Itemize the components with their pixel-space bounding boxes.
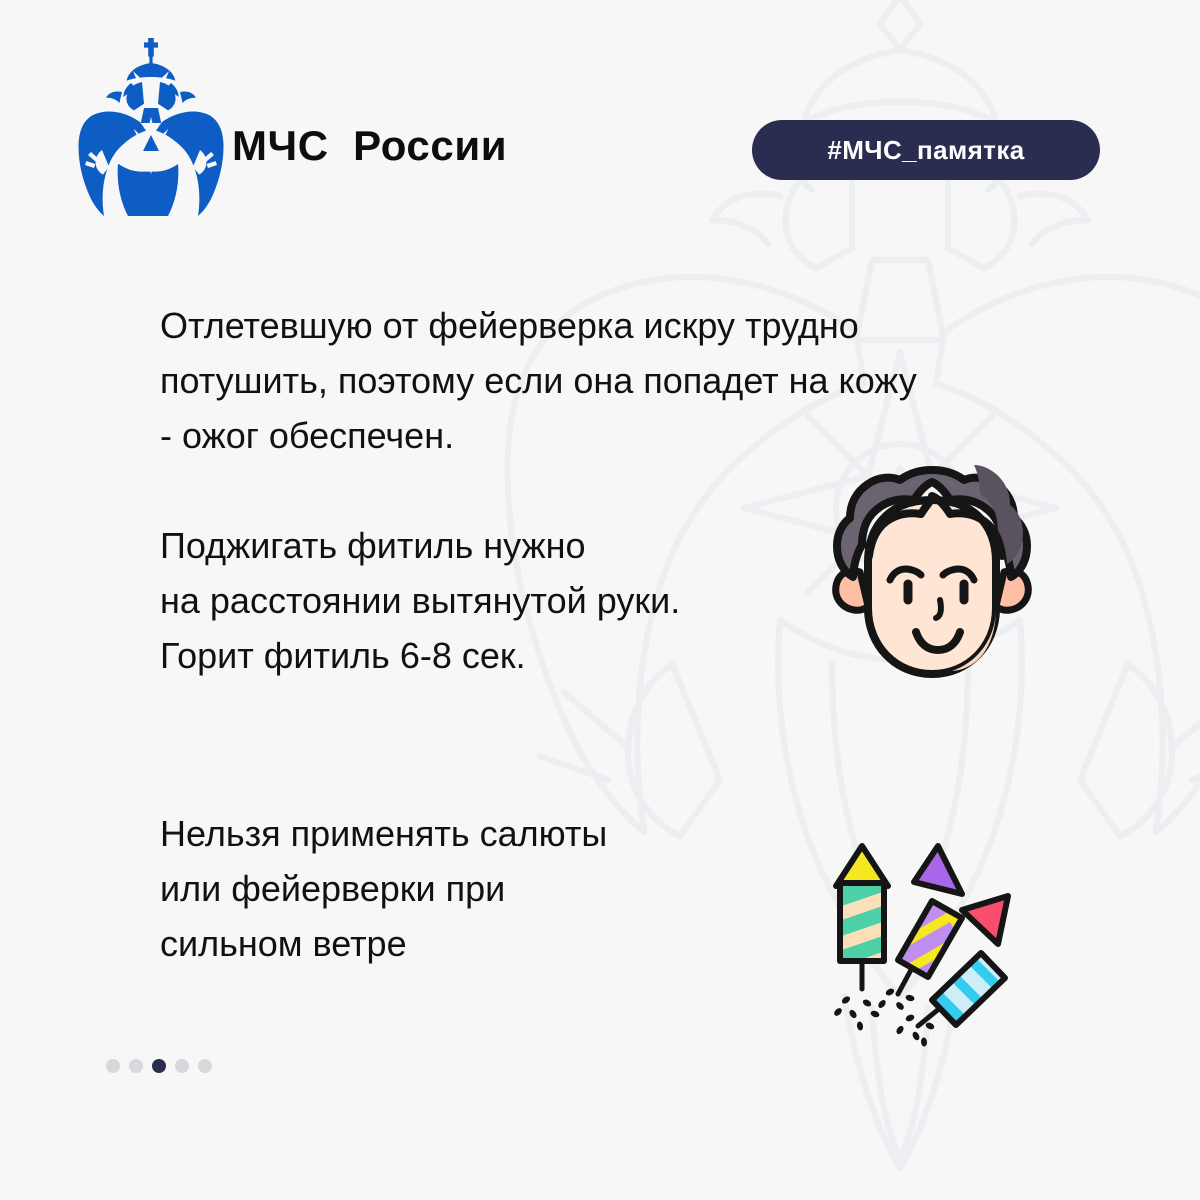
pagination-dot[interactable] [198,1059,212,1073]
hashtag-badge-label: #МЧС_памятка [827,135,1024,166]
poster-canvas: МЧС России #МЧС_памятка Отлетевшую от фе… [0,0,1200,1200]
mchs-eagle-emblem-icon [78,34,224,216]
pagination-dot[interactable] [175,1059,189,1073]
paragraph-strong-wind: Нельзя применять салюты или фейерверки п… [160,806,780,971]
brand-title: МЧС России [232,122,507,170]
paragraph-fuse-distance: Поджигать фитиль нужно на расстоянии выт… [160,518,860,683]
pagination-dot-active[interactable] [152,1059,166,1073]
fireworks-rockets-illustration [812,838,1042,1048]
pagination-dot[interactable] [106,1059,120,1073]
carousel-pagination[interactable] [106,1059,212,1073]
header: МЧС России #МЧС_памятка [0,0,1200,240]
smiling-face-illustration [812,452,1052,702]
pagination-dot[interactable] [129,1059,143,1073]
paragraph-spark-burn: Отлетевшую от фейерверка искру трудно по… [160,298,1090,463]
hashtag-badge[interactable]: #МЧС_памятка [752,120,1100,180]
